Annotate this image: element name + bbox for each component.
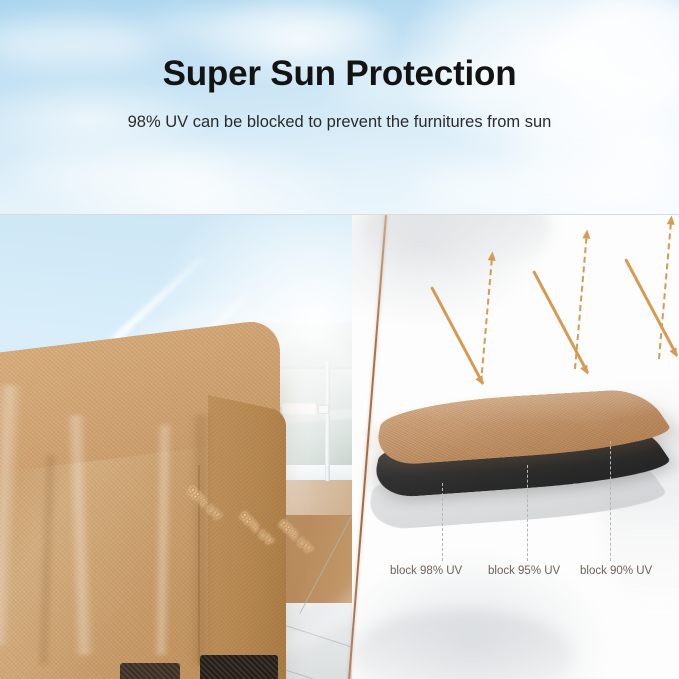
reflected-uv-arrow (480, 259, 493, 383)
cloud-decoration (420, 160, 679, 214)
reflected-uv-arrow (574, 237, 587, 369)
product-infographic: Super Sun Protection 98% UV can be block… (0, 0, 679, 679)
caption-leader-line (442, 483, 443, 561)
cloud-decoration (150, 8, 380, 48)
incoming-uv-arrow (430, 286, 484, 384)
cloud-decoration (20, 150, 230, 194)
layer-caption-middle: block 95% UV (488, 565, 560, 577)
fabric-mesh-texture (208, 395, 286, 679)
layer-caption-top: block 98% UV (390, 565, 462, 577)
caption-leader-line (610, 441, 611, 561)
fabric-shadow (190, 415, 212, 665)
caption-leader-line (527, 465, 528, 561)
wicker-furniture-leg (120, 663, 180, 679)
wicker-furniture-leg (200, 655, 278, 679)
incoming-uv-arrow (624, 258, 678, 356)
furniture-cover-side (208, 395, 286, 679)
paper-fold-shading (352, 610, 572, 679)
header-banner: Super Sun Protection 98% UV can be block… (0, 0, 679, 214)
reflected-uv-arrow (658, 223, 672, 359)
page-subtitle: 98% UV can be blocked to prevent the fur… (0, 113, 679, 132)
fabric-layers-diagram: block 98% UV block 95% UV block 90% UV (352, 215, 679, 679)
paper-fold-shading (362, 215, 552, 275)
page-title: Super Sun Protection (0, 54, 679, 94)
content-panel: 98% UV 98% UV 98% UV block 98% UV (0, 214, 679, 679)
balcony-photo: 98% UV 98% UV 98% UV (0, 215, 392, 679)
layer-caption-bottom: block 90% UV (580, 565, 652, 577)
